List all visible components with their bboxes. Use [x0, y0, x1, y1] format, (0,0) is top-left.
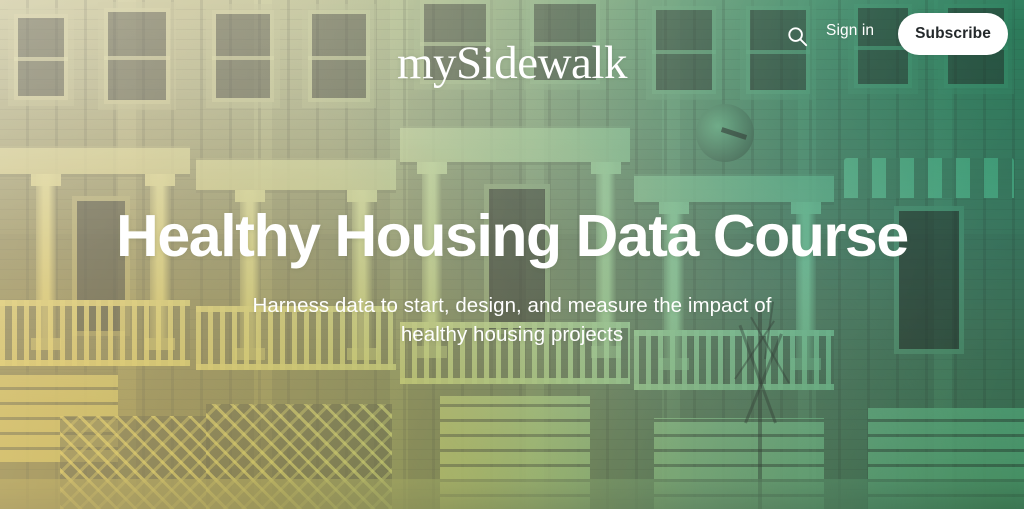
hero-content: Sign in Subscribe mySidewalk Healthy Hou… [0, 0, 1024, 509]
sign-in-link[interactable]: Sign in [826, 22, 874, 40]
hero-banner: Sign in Subscribe mySidewalk Healthy Hou… [0, 0, 1024, 509]
site-logo[interactable]: mySidewalk [0, 40, 1024, 87]
page-subtitle: Harness data to start, design, and measu… [222, 291, 802, 349]
page-subtitle-line-2: healthy housing projects [401, 323, 623, 346]
page-subtitle-line-1: Harness data to start, design, and measu… [253, 294, 772, 317]
page-title: Healthy Housing Data Course [0, 206, 1024, 268]
